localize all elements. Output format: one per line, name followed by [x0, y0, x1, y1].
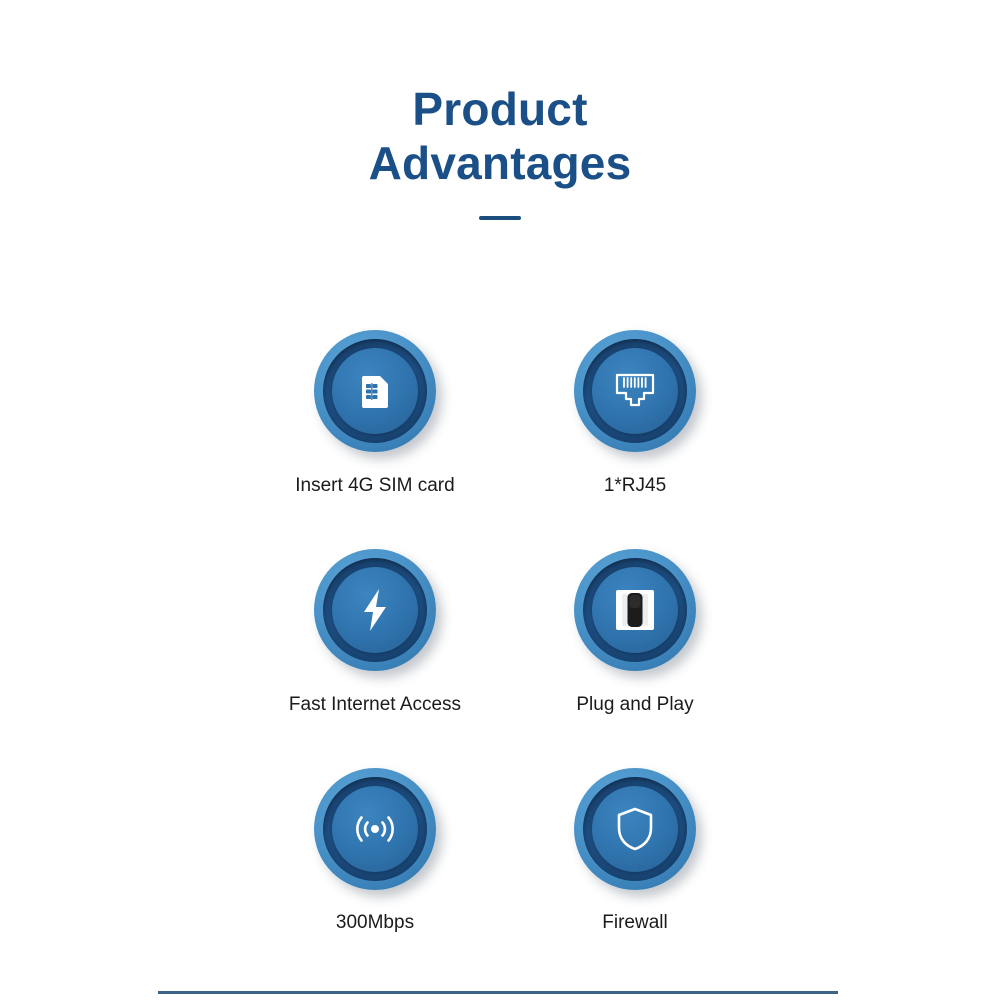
advantage-label: Insert 4G SIM card — [295, 474, 454, 498]
badge-inner-disc — [332, 567, 418, 653]
advantage-label: Fast Internet Access — [289, 693, 461, 717]
lightning-bolt-icon — [358, 587, 392, 633]
page-title-line-2: Advantages — [0, 136, 1000, 190]
advantage-badge — [314, 549, 436, 671]
advantage-item-firewall[interactable]: Firewall — [505, 768, 765, 987]
page-title: Product Advantages — [0, 82, 1000, 220]
advantage-label: 300Mbps — [336, 911, 414, 935]
wall-switch-icon — [614, 588, 656, 632]
advantage-badge — [574, 768, 696, 890]
rj45-port-icon — [614, 372, 656, 410]
advantage-badge — [314, 768, 436, 890]
advantage-item-300mbps[interactable]: 300Mbps — [245, 768, 505, 987]
badge-inner-disc — [332, 786, 418, 872]
shield-icon — [615, 806, 655, 852]
badge-inner-disc — [592, 786, 678, 872]
page-title-line-1: Product — [0, 82, 1000, 136]
title-underline-rule — [479, 216, 521, 220]
badge-inner-disc — [592, 567, 678, 653]
advantage-item-sim-card[interactable]: Insert 4G SIM card — [245, 330, 505, 549]
advantages-grid: Insert 4G SIM card — [245, 330, 765, 987]
sim-card-icon — [355, 371, 395, 411]
advantage-badge — [574, 549, 696, 671]
advantage-label: 1*RJ45 — [604, 474, 666, 498]
product-advantages-page: Product Advantages — [0, 0, 1000, 1000]
bottom-divider-rule — [158, 991, 838, 994]
badge-inner-disc — [332, 348, 418, 434]
advantage-label: Plug and Play — [576, 693, 693, 717]
wireless-signal-icon — [351, 809, 399, 849]
advantage-item-rj45[interactable]: 1*RJ45 — [505, 330, 765, 549]
advantage-item-fast-internet[interactable]: Fast Internet Access — [245, 549, 505, 768]
advantage-label: Firewall — [602, 911, 667, 935]
advantage-badge — [574, 330, 696, 452]
badge-inner-disc — [592, 348, 678, 434]
advantage-item-plug-and-play[interactable]: Plug and Play — [505, 549, 765, 768]
advantage-badge — [314, 330, 436, 452]
